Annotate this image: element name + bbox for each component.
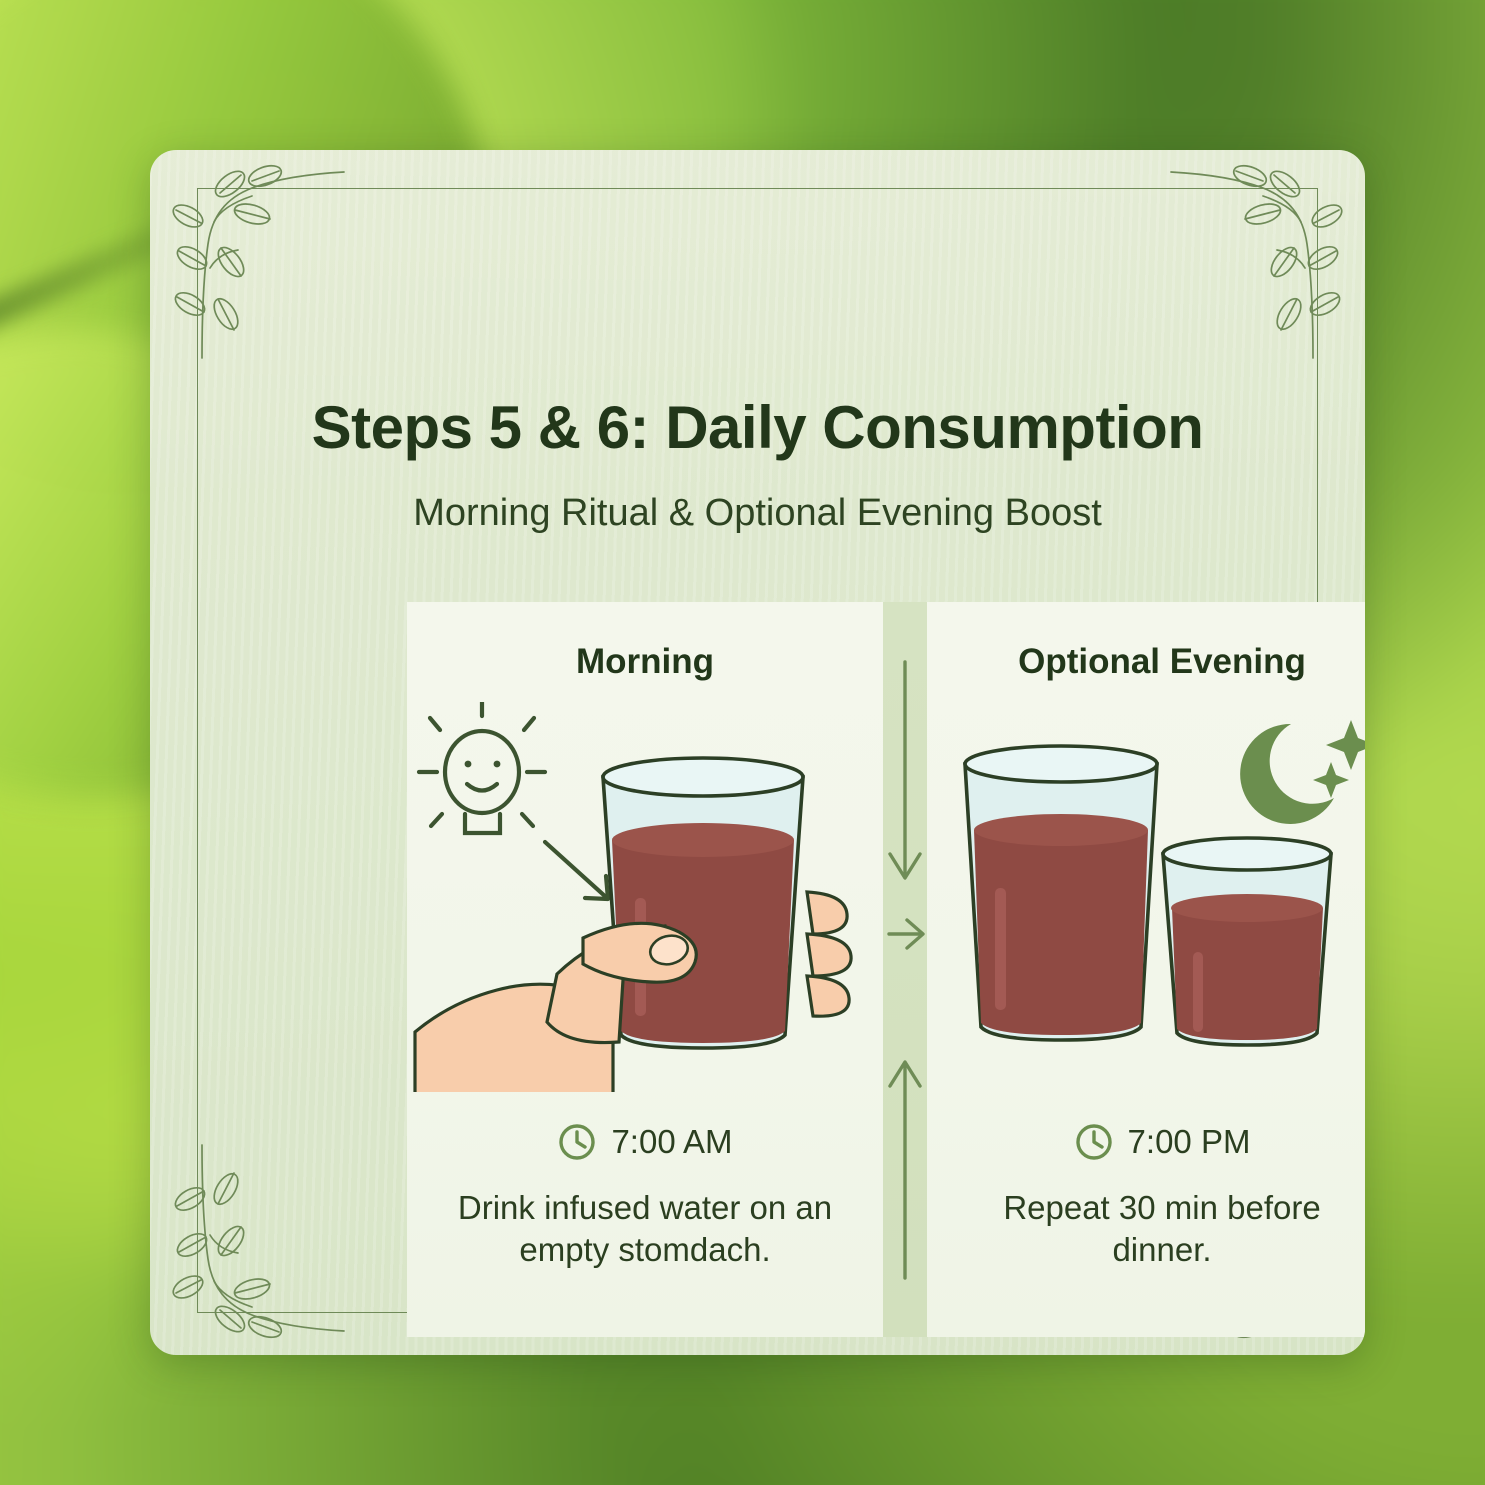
clock-icon [1074, 1122, 1114, 1162]
arrow-up-icon [890, 1062, 920, 1278]
moon-sparkles-icon [1240, 720, 1365, 824]
panel-connector-arrows [883, 602, 927, 1337]
page-subtitle: Morning Ritual & Optional Evening Boost [150, 492, 1365, 535]
evening-time: 7:00 PM [1128, 1123, 1251, 1161]
evening-caption: Repeat 30 min before dinner. [955, 1187, 1365, 1271]
clock-icon [557, 1122, 597, 1162]
page-title: Steps 5 & 6: Daily Consumption [150, 393, 1365, 462]
short-glass-icon [1163, 838, 1331, 1045]
panel-morning-title: Morning [407, 642, 883, 682]
panel-morning[interactable]: Morning [407, 602, 883, 1337]
morning-time-row: 7:00 AM [407, 1122, 883, 1162]
morning-illustration [407, 702, 883, 1092]
tall-glass-icon [965, 746, 1157, 1040]
sun-face-icon [419, 702, 545, 833]
morning-caption: Drink infused water on an empty stomdach… [435, 1187, 855, 1271]
evening-time-row: 7:00 PM [927, 1122, 1365, 1162]
morning-time: 7:00 AM [611, 1123, 732, 1161]
arrow-down-icon [890, 662, 920, 878]
arrow-down-right-icon [545, 842, 608, 899]
panel-evening[interactable]: Optional Evening [927, 602, 1365, 1337]
arrow-right-icon [889, 920, 923, 948]
hand-holding-glass-icon [415, 758, 851, 1092]
evening-illustration [927, 702, 1365, 1092]
infographic-card: Steps 5 & 6: Daily Consumption Morning R… [150, 150, 1365, 1355]
panel-evening-title: Optional Evening [927, 642, 1365, 682]
